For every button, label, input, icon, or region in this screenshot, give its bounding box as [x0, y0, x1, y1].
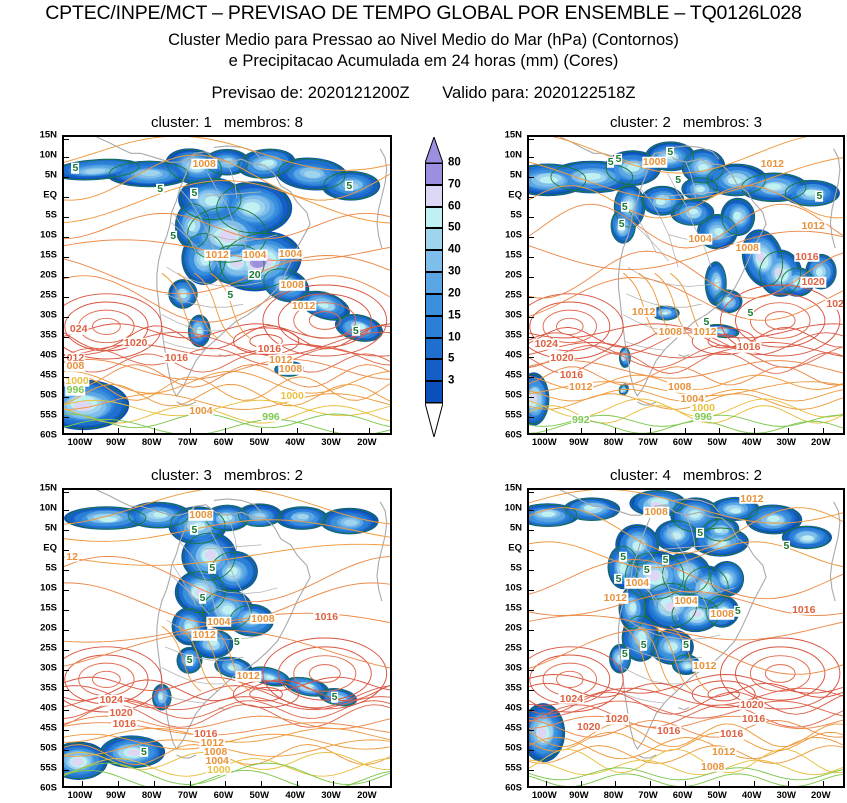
cluster-label: cluster: 2: [610, 114, 671, 131]
contour-label: 1020: [739, 699, 764, 710]
y-axis-label: 5N: [45, 523, 57, 533]
contour-label: 5: [169, 231, 177, 242]
colorbar-tick-label: 60: [448, 201, 461, 213]
colorbar-segment: [425, 207, 443, 229]
y-axis-label: 10S: [40, 230, 57, 240]
contour-label: 1008: [191, 158, 216, 169]
y-axis-tick: [529, 434, 534, 435]
contour-label: 1004: [673, 596, 698, 607]
contour-label: 1020: [800, 277, 825, 288]
contour-label: 5: [621, 201, 629, 212]
y-axis-label: 15N: [40, 130, 57, 140]
contour-label: 996: [66, 385, 86, 396]
precipitation-colorbar: 80706050403020151053: [425, 137, 443, 437]
contour-label: 1012: [739, 494, 764, 505]
y-axis-label: 60S: [505, 430, 522, 440]
x-axis-label: 90W: [106, 438, 126, 448]
page-title: CPTEC/INPE/MCT – PREVISAO DE TEMPO GLOBA…: [0, 2, 847, 25]
y-axis-tick: [529, 139, 534, 140]
x-axis-tick: [823, 428, 824, 433]
y-axis-tick: [64, 510, 69, 511]
y-axis-tick: [529, 177, 534, 178]
x-axis-label: 90W: [569, 438, 589, 448]
x-axis-label: 40W: [285, 791, 305, 801]
y-axis-tick: [529, 570, 534, 571]
y-axis-tick: [64, 710, 69, 711]
map-graphics-layer: [64, 490, 390, 786]
y-axis-label: 25S: [40, 290, 57, 300]
colorbar-segment: [425, 272, 443, 294]
y-axis-tick: [64, 610, 69, 611]
y-axis-tick: [529, 670, 534, 671]
y-axis-tick: [529, 337, 534, 338]
colorbar-tick-label: 3: [448, 375, 454, 387]
contour-label: 5: [816, 191, 824, 202]
y-axis-label: 55S: [505, 763, 522, 773]
contour-label: 1016: [656, 726, 681, 737]
x-axis-label: 70W: [638, 438, 658, 448]
colorbar-tick-label: 80: [448, 157, 461, 169]
map-graphics-layer: [64, 137, 390, 433]
contour-label: 5: [208, 563, 216, 574]
x-axis-tick: [154, 428, 155, 433]
x-axis-tick: [788, 781, 789, 786]
contour-label: 1012: [760, 158, 785, 169]
contour-label: 5: [615, 574, 623, 585]
colorbar-under-arrow: [425, 403, 443, 437]
contour-label: 024: [69, 324, 89, 335]
contour-label: 1012: [800, 221, 825, 232]
x-axis-tick: [154, 781, 155, 786]
y-axis-tick: [64, 357, 69, 358]
contour-label: 5: [199, 593, 207, 604]
y-axis-tick: [64, 139, 69, 140]
contour-label: 5: [607, 157, 615, 168]
y-axis-tick: [529, 550, 534, 551]
y-axis-label: 35S: [40, 330, 57, 340]
y-axis-tick: [64, 492, 69, 493]
contour-label: 5: [331, 692, 339, 703]
colorbar-tick-label: 40: [448, 245, 461, 257]
contour-label: 1004: [687, 234, 712, 245]
contour-label: 12: [65, 551, 79, 562]
colorbar-segment: [425, 228, 443, 250]
y-axis-label: 20S: [40, 270, 57, 280]
y-axis-label: 10N: [505, 150, 522, 160]
map-frame-cluster-2: 5551008101255551004100810121016102010210…: [527, 135, 845, 435]
y-axis-label: 25S: [40, 643, 57, 653]
contour-label: 1004: [242, 250, 267, 261]
contour-label: 1012: [191, 630, 216, 641]
contour-label: 5: [352, 326, 360, 337]
y-axis-label: 60S: [40, 783, 57, 793]
x-axis-label: 30W: [321, 791, 341, 801]
x-axis-tick: [615, 781, 616, 786]
x-axis-tick: [261, 428, 262, 433]
x-axis-label: 30W: [321, 438, 341, 448]
y-axis-label: 40S: [505, 350, 522, 360]
panel-title-cluster-4: cluster: 4membros: 2: [527, 467, 845, 484]
y-axis-label: 5S: [45, 563, 57, 573]
contour-label: 1008: [667, 382, 692, 393]
y-axis-label: 5N: [45, 170, 57, 180]
x-axis-label: 80W: [142, 438, 162, 448]
members-label: membros: 2: [224, 467, 303, 484]
x-axis-label: 20W: [357, 791, 377, 801]
y-axis-tick: [529, 317, 534, 318]
y-axis-label: 40S: [505, 703, 522, 713]
y-axis-tick: [529, 630, 534, 631]
colorbar-over-arrow: [425, 137, 443, 163]
x-axis-tick: [82, 428, 83, 433]
x-axis-label: 40W: [742, 791, 762, 801]
y-axis-tick: [64, 397, 69, 398]
x-axis-tick: [225, 428, 226, 433]
y-axis-tick: [64, 317, 69, 318]
contour-label: 1020: [576, 722, 601, 733]
map-graphics-layer: [529, 490, 843, 786]
colorbar-segment: [425, 250, 443, 272]
x-axis-label: 50W: [707, 791, 727, 801]
contour-label: 1012: [692, 661, 717, 672]
map-canvas-cluster-1: 1008555551012100410042010085101202410201…: [64, 137, 390, 433]
contour-label: 5: [643, 565, 651, 576]
y-axis-tick: [529, 590, 534, 591]
contour-label: 5: [190, 188, 198, 199]
y-axis-tick: [64, 770, 69, 771]
y-axis-tick: [529, 297, 534, 298]
y-axis-label: 15N: [505, 130, 522, 140]
y-axis-tick: [64, 277, 69, 278]
contour-label: 1016: [794, 252, 819, 263]
map-frame-cluster-1: 1008555551012100410042010085101202410201…: [62, 135, 392, 435]
x-axis-tick: [754, 781, 755, 786]
contour-label: 1004: [206, 616, 231, 627]
contour-label: 5: [666, 147, 674, 158]
y-axis-label: 15S: [40, 603, 57, 613]
x-axis-tick: [581, 781, 582, 786]
x-axis-label: 30W: [776, 791, 796, 801]
colorbar-segment: [425, 185, 443, 207]
y-axis-tick: [64, 787, 69, 788]
y-axis-label: 15N: [40, 483, 57, 493]
y-axis-label: 10S: [505, 230, 522, 240]
y-axis-tick: [529, 610, 534, 611]
contour-label: 1012: [631, 306, 656, 317]
map-panel-cluster-1[interactable]: cluster: 1membros: 8 1008555551012100410…: [62, 135, 392, 435]
members-label: membros: 3: [683, 114, 762, 131]
x-axis-label: 100W: [68, 791, 93, 801]
y-axis-label: 45S: [40, 370, 57, 380]
y-axis-label: EQ: [508, 190, 522, 200]
contour-label: 1012: [711, 747, 736, 758]
contour-label: 5: [662, 554, 670, 565]
panel-title-cluster-1: cluster: 1membros: 8: [62, 114, 392, 131]
colorbar-segment: [425, 163, 443, 185]
x-axis-label: 70W: [638, 791, 658, 801]
contour-label: 1020: [549, 352, 574, 363]
x-axis-tick: [190, 781, 191, 786]
contour-label: 1012: [692, 327, 717, 338]
colorbar-segment: [425, 338, 443, 360]
colorbar-segment: [425, 294, 443, 316]
x-axis-tick: [754, 428, 755, 433]
x-axis-label: 20W: [357, 438, 377, 448]
contour-label: 1016: [314, 612, 339, 623]
y-axis-label: 40S: [40, 703, 57, 713]
x-axis-tick: [546, 428, 547, 433]
y-axis-tick: [529, 397, 534, 398]
y-axis-label: 35S: [505, 330, 522, 340]
y-axis-tick: [64, 217, 69, 218]
x-axis-tick: [650, 781, 651, 786]
y-axis-tick: [64, 197, 69, 198]
x-axis-label: 80W: [604, 791, 624, 801]
x-axis-label: 50W: [250, 791, 270, 801]
contour-label: 5: [618, 219, 626, 230]
x-axis-tick: [546, 781, 547, 786]
y-axis-tick: [64, 730, 69, 731]
x-axis-tick: [261, 781, 262, 786]
map-panel-cluster-2[interactable]: cluster: 2membros: 3 5551008101255551004…: [527, 135, 845, 435]
x-axis-label: 100W: [68, 438, 93, 448]
contour-label: 20: [248, 269, 262, 280]
contour-label: 1008: [643, 507, 668, 518]
contour-label: 5: [696, 528, 704, 539]
y-axis-tick: [529, 197, 534, 198]
y-axis-tick: [529, 650, 534, 651]
contour-label: 1012: [205, 250, 230, 261]
y-axis-tick: [64, 157, 69, 158]
y-axis-tick: [64, 590, 69, 591]
y-axis-label: 50S: [40, 743, 57, 753]
contour-label: 1008: [642, 157, 667, 168]
x-axis-tick: [788, 428, 789, 433]
contour-label: 5: [640, 640, 648, 651]
x-axis-tick: [615, 428, 616, 433]
y-axis-label: EQ: [43, 543, 57, 553]
x-axis-tick: [118, 781, 119, 786]
contour-label: 5: [345, 181, 353, 192]
y-axis-tick: [64, 670, 69, 671]
y-axis-label: 15S: [40, 250, 57, 260]
y-axis-tick: [64, 750, 69, 751]
forecast-run-time: Previsao de: 2020121200Z: [211, 84, 409, 102]
y-axis-tick: [529, 492, 534, 493]
contour-label: 5: [186, 655, 194, 666]
y-axis-label: 10N: [40, 503, 57, 513]
y-axis-tick: [64, 434, 69, 435]
y-axis-tick: [64, 417, 69, 418]
y-axis-label: 45S: [505, 723, 522, 733]
contour-label: 1020: [604, 714, 629, 725]
x-axis-tick: [823, 781, 824, 786]
y-axis-tick: [64, 337, 69, 338]
colorbar-tick-label: 15: [448, 310, 461, 322]
y-axis-tick: [64, 377, 69, 378]
contour-label: 5: [156, 184, 164, 195]
x-axis-tick: [719, 781, 720, 786]
subtitle-line-2: e Precipitacao Acumulada em 24 horas (mm…: [0, 52, 847, 71]
contour-label: 5: [226, 290, 234, 301]
contour-label: 1020: [123, 337, 148, 348]
contour-label: 1008: [250, 614, 275, 625]
y-axis-label: 55S: [40, 410, 57, 420]
contour-label: 008: [66, 361, 86, 372]
y-axis-tick: [529, 730, 534, 731]
y-axis-tick: [64, 550, 69, 551]
y-axis-label: 10S: [40, 583, 57, 593]
y-axis-tick: [64, 650, 69, 651]
x-axis-label: 70W: [178, 791, 198, 801]
contour-label: 1000: [206, 764, 231, 775]
contour-label: 996: [261, 411, 281, 422]
y-axis-tick: [64, 237, 69, 238]
x-axis-tick: [82, 781, 83, 786]
contour-label: 5: [674, 175, 682, 186]
contour-label: 5: [682, 640, 690, 651]
contour-label: 1012: [236, 671, 261, 682]
y-axis-label: 15N: [505, 483, 522, 493]
y-axis-label: 10N: [40, 150, 57, 160]
y-axis-label: 50S: [40, 390, 57, 400]
x-axis-label: 80W: [604, 438, 624, 448]
x-axis-label: 100W: [532, 791, 557, 801]
y-axis-label: 20S: [505, 623, 522, 633]
y-axis-tick: [529, 510, 534, 511]
y-axis-label: 30S: [40, 663, 57, 673]
x-axis-label: 60W: [673, 791, 693, 801]
y-axis-tick: [529, 157, 534, 158]
y-axis-tick: [64, 257, 69, 258]
map-panel-cluster-3[interactable]: cluster: 3membros: 2 1008512551004100810…: [62, 488, 392, 788]
x-axis-label: 40W: [742, 438, 762, 448]
y-axis-tick: [529, 217, 534, 218]
contour-label: 1024: [559, 693, 584, 704]
contour-label: 1008: [188, 510, 213, 521]
y-axis-tick: [64, 570, 69, 571]
y-axis-label: 5S: [510, 563, 522, 573]
y-axis-tick: [529, 750, 534, 751]
x-axis-tick: [333, 428, 334, 433]
y-axis-label: 35S: [505, 683, 522, 693]
cluster-label: cluster: 3: [151, 467, 212, 484]
contour-label: 1008: [735, 243, 760, 254]
forecast-chart-page: CPTEC/INPE/MCT – PREVISAO DE TEMPO GLOBA…: [0, 0, 847, 803]
y-axis-label: 20S: [505, 270, 522, 280]
members-label: membros: 8: [224, 114, 303, 131]
colorbar-tick-label: 50: [448, 223, 461, 235]
map-frame-cluster-4: 1012100855555510041012100410085101655510…: [527, 488, 845, 788]
contour-label: 1008: [709, 609, 734, 620]
y-axis-label: 40S: [40, 350, 57, 360]
colorbar-segment: [425, 359, 443, 381]
contour-label: 1016: [741, 714, 766, 725]
contour-label: 1016: [164, 352, 189, 363]
y-axis-tick: [529, 257, 534, 258]
contour-label: 1016: [736, 342, 761, 353]
y-axis-label: 20S: [40, 623, 57, 633]
contour-label: 1008: [700, 762, 725, 773]
map-canvas-cluster-3: 1008512551004100810161012551012510241020…: [64, 490, 390, 786]
contour-label: 992: [571, 414, 591, 425]
y-axis-tick: [64, 690, 69, 691]
y-axis-tick: [529, 277, 534, 278]
y-axis-label: EQ: [43, 190, 57, 200]
y-axis-label: 55S: [505, 410, 522, 420]
y-axis-label: 5N: [510, 170, 522, 180]
x-axis-tick: [369, 781, 370, 786]
map-canvas-cluster-2: 5551008101255551004100810121016102010210…: [529, 137, 843, 433]
y-axis-tick: [529, 237, 534, 238]
y-axis-tick: [64, 630, 69, 631]
x-axis-tick: [369, 428, 370, 433]
y-axis-tick: [529, 530, 534, 531]
contour-label: 1016: [719, 729, 744, 740]
x-axis-tick: [581, 428, 582, 433]
x-axis-label: 60W: [214, 438, 234, 448]
x-axis-label: 40W: [285, 438, 305, 448]
y-axis-label: 25S: [505, 290, 522, 300]
contour-label: 996: [694, 411, 714, 422]
x-axis-label: 100W: [532, 438, 557, 448]
y-axis-label: 25S: [505, 643, 522, 653]
contour-label: 1016: [791, 605, 816, 616]
x-axis-tick: [297, 781, 298, 786]
contour-label: 1012: [291, 300, 316, 311]
colorbar-segment: [425, 381, 443, 403]
x-axis-tick: [225, 781, 226, 786]
y-axis-tick: [529, 357, 534, 358]
subtitle-line-1: Cluster Medio para Pressao ao Nivel Medi…: [0, 31, 847, 50]
x-axis-tick: [333, 781, 334, 786]
y-axis-tick: [64, 177, 69, 178]
y-axis-tick: [529, 377, 534, 378]
x-axis-label: 30W: [776, 438, 796, 448]
map-panel-cluster-4[interactable]: cluster: 4membros: 2 1012100855555510041…: [527, 488, 845, 788]
x-axis-label: 20W: [811, 438, 831, 448]
y-axis-tick: [529, 787, 534, 788]
y-axis-label: 15S: [505, 603, 522, 613]
y-axis-label: 35S: [40, 683, 57, 693]
contour-label: 5: [615, 154, 623, 165]
contour-label: 1016: [112, 719, 137, 730]
x-axis-tick: [118, 428, 119, 433]
contour-label: 5: [233, 637, 241, 648]
y-axis-label: 5N: [510, 523, 522, 533]
contour-label: 1016: [257, 343, 282, 354]
y-axis-tick: [529, 690, 534, 691]
colorbar-tick-label: 5: [448, 354, 454, 366]
contour-label: 5: [71, 163, 79, 174]
y-axis-label: 50S: [505, 390, 522, 400]
contour-label: 102: [825, 299, 843, 310]
x-axis-label: 50W: [707, 438, 727, 448]
y-axis-label: EQ: [508, 543, 522, 553]
contour-label: 5: [621, 649, 629, 660]
contour-label: 1008: [658, 327, 683, 338]
contour-label: 1004: [625, 578, 650, 589]
contour-label: 1004: [188, 406, 213, 417]
forecast-valid-time: Valido para: 2020122518Z: [442, 84, 635, 102]
y-axis-label: 10N: [505, 503, 522, 513]
y-axis-tick: [64, 530, 69, 531]
y-axis-label: 45S: [505, 370, 522, 380]
y-axis-label: 30S: [505, 310, 522, 320]
y-axis-label: 15S: [505, 250, 522, 260]
contour-label: 1016: [559, 370, 584, 381]
contour-label: 1012: [603, 593, 628, 604]
